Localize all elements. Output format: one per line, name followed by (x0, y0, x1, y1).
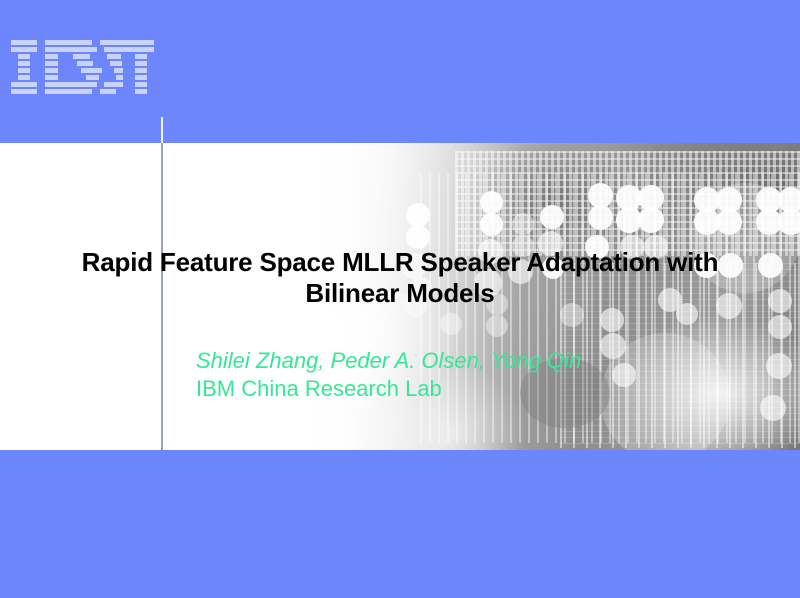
author-names: Shilei Zhang, Peder A. Olsen, Yong Qin (196, 347, 756, 375)
slide-title: Rapid Feature Space MLLR Speaker Adaptat… (40, 247, 760, 309)
bokeh-circle (778, 209, 800, 235)
bokeh-circle (768, 289, 792, 313)
bokeh-circle (758, 253, 783, 278)
slide-title-line-1: Rapid Feature Space MLLR Speaker Adaptat… (82, 247, 719, 277)
author-block: Shilei Zhang, Peder A. Olsen, Yong Qin I… (196, 347, 756, 403)
slide-title-line-2: Bilinear Models (305, 278, 494, 308)
bokeh-circle (716, 209, 742, 235)
bokeh-circle (638, 207, 664, 233)
bokeh-circle (768, 315, 792, 339)
ibm-logo (11, 40, 154, 94)
bottom-blue-band (0, 450, 800, 598)
bokeh-circle (588, 205, 613, 230)
bokeh-circle (540, 205, 564, 229)
bokeh-circle (766, 353, 792, 379)
bokeh-circle (600, 308, 624, 332)
presentation-slide: Rapid Feature Space MLLR Speaker Adaptat… (0, 0, 800, 598)
author-affiliation: IBM China Research Lab (196, 375, 756, 403)
bokeh-circle (760, 395, 786, 421)
header-divider-rule (161, 117, 163, 143)
